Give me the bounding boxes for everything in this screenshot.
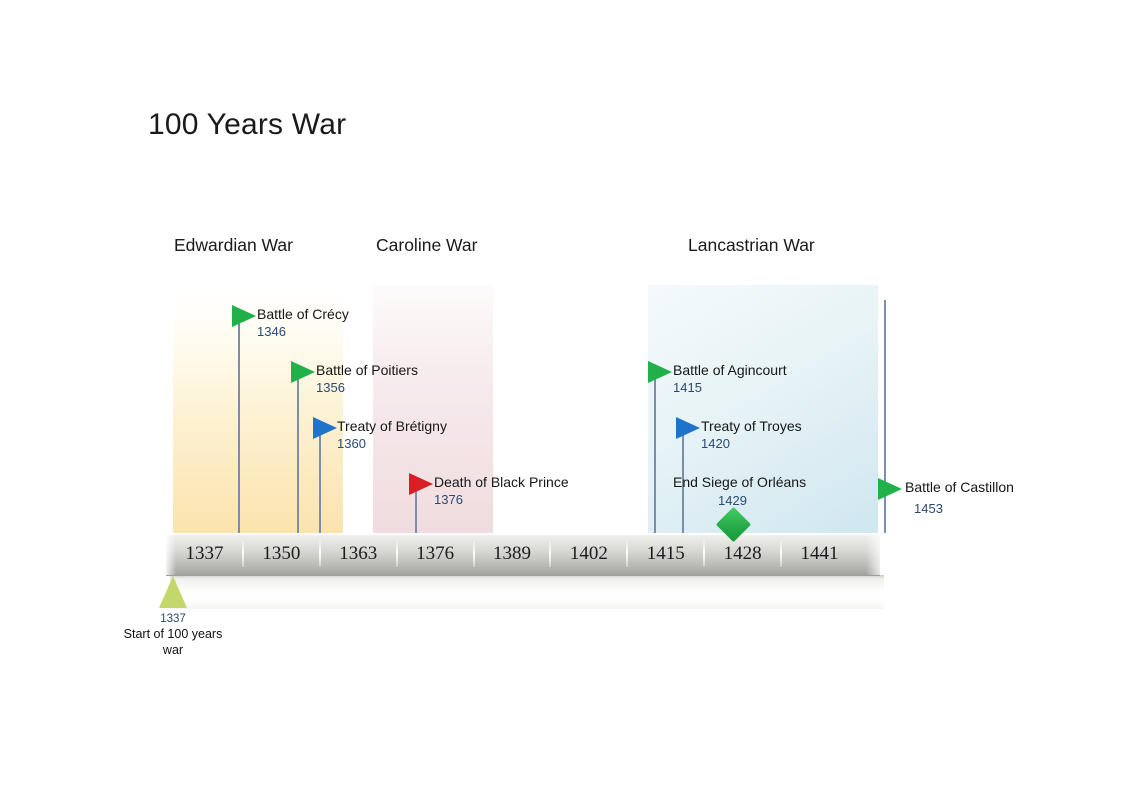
event-title: Battle of Crécy <box>257 306 349 322</box>
event-flag-red-icon <box>409 473 433 495</box>
phase-label-caroline: Caroline War <box>376 235 477 256</box>
event-flag-green-icon <box>291 361 315 383</box>
axis-year-label: 1402 <box>550 543 627 565</box>
start-marker-caption-line2: war <box>163 643 183 657</box>
era-band-edwardian <box>173 285 343 533</box>
page-title: 100 Years War <box>148 108 346 142</box>
event-year: 1360 <box>337 436 366 451</box>
axis-tick <box>319 541 321 567</box>
event-title: Battle of Agincourt <box>673 362 787 378</box>
start-marker-caption-line1: Start of 100 years <box>124 627 223 641</box>
event-title: Treaty of Brétigny <box>337 418 447 434</box>
axis-year-label: 1376 <box>397 543 474 565</box>
event-year: 1453 <box>914 501 943 516</box>
event-year: 1420 <box>701 436 730 451</box>
axis-tick <box>549 541 551 567</box>
event-year: 1415 <box>673 380 702 395</box>
phase-label-edwardian: Edwardian War <box>174 235 293 256</box>
event-year: 1376 <box>434 492 463 507</box>
axis-tick <box>396 541 398 567</box>
milestone-title: End Siege of Orléans <box>673 474 806 490</box>
axis-year-label: 1415 <box>627 543 704 565</box>
axis-year-label: 1337 <box>166 543 243 565</box>
start-marker-caption: Start of 100 years war <box>93 626 253 658</box>
start-marker-triangle-icon <box>159 576 187 608</box>
axis-tick <box>703 541 705 567</box>
event-flag-pole <box>238 316 240 533</box>
event-title: Battle of Castillon <box>905 479 1014 495</box>
event-flag-green-icon <box>648 361 672 383</box>
event-title: Death of Black Prince <box>434 474 569 490</box>
axis-tick <box>780 541 782 567</box>
event-flag-pole <box>654 372 656 533</box>
event-flag-pole <box>319 428 321 533</box>
milestone-year: 1429 <box>718 493 747 508</box>
event-title: Treaty of Troyes <box>701 418 802 434</box>
phase-label-lancastrian: Lancastrian War <box>688 235 815 256</box>
axis-year-label: 1441 <box>781 543 858 565</box>
event-flag-blue-icon <box>676 417 700 439</box>
event-year: 1346 <box>257 324 286 339</box>
event-year: 1356 <box>316 380 345 395</box>
axis-year-label: 1350 <box>243 543 320 565</box>
event-flag-pole <box>297 372 299 533</box>
start-marker-year: 1337 <box>93 613 253 625</box>
timeline-bar-base <box>170 575 884 609</box>
timeline-bar-end-cap <box>866 533 888 575</box>
axis-year-label: 1389 <box>474 543 551 565</box>
event-flag-green-icon <box>878 478 902 500</box>
timeline-canvas: 100 Years War Edwardian War Caroline War… <box>0 0 1123 794</box>
axis-year-label: 1363 <box>320 543 397 565</box>
era-band-caroline <box>373 285 493 533</box>
axis-tick <box>242 541 244 567</box>
axis-tick <box>473 541 475 567</box>
axis-tick <box>626 541 628 567</box>
event-flag-green-icon <box>232 305 256 327</box>
event-flag-blue-icon <box>313 417 337 439</box>
event-title: Battle of Poitiers <box>316 362 418 378</box>
axis-year-label: 1428 <box>704 543 781 565</box>
